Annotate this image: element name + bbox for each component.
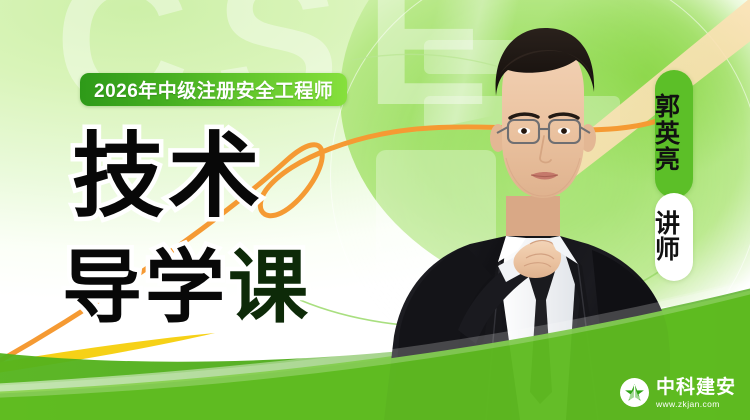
brand-logo: 中科建安 www.zkjan.com (620, 378, 736, 409)
instructor-role-pill: 讲师 (655, 193, 693, 281)
brand-text: 中科建安 www.zkjan.com (656, 378, 736, 409)
title-line-1: 技术 (72, 131, 264, 223)
title-line-2-main: 导学 (62, 241, 228, 334)
brand-name: 中科建安 (656, 378, 736, 397)
course-badge-label: 2026年中级注册安全工程师 (94, 76, 333, 103)
star-mountain-icon (620, 378, 649, 407)
instructor-name: 郭英亮 (655, 94, 693, 174)
course-badge: 2026年中级注册安全工程师 (80, 73, 347, 106)
course-banner: CSE (0, 0, 750, 420)
brand-url: www.zkjan.com (656, 400, 736, 409)
instructor-name-pill: 郭英亮 (655, 70, 693, 198)
title-line-2: 导学课 (62, 248, 311, 328)
instructor-role: 讲师 (655, 211, 693, 264)
title-line-2-last: 课 (228, 241, 311, 334)
